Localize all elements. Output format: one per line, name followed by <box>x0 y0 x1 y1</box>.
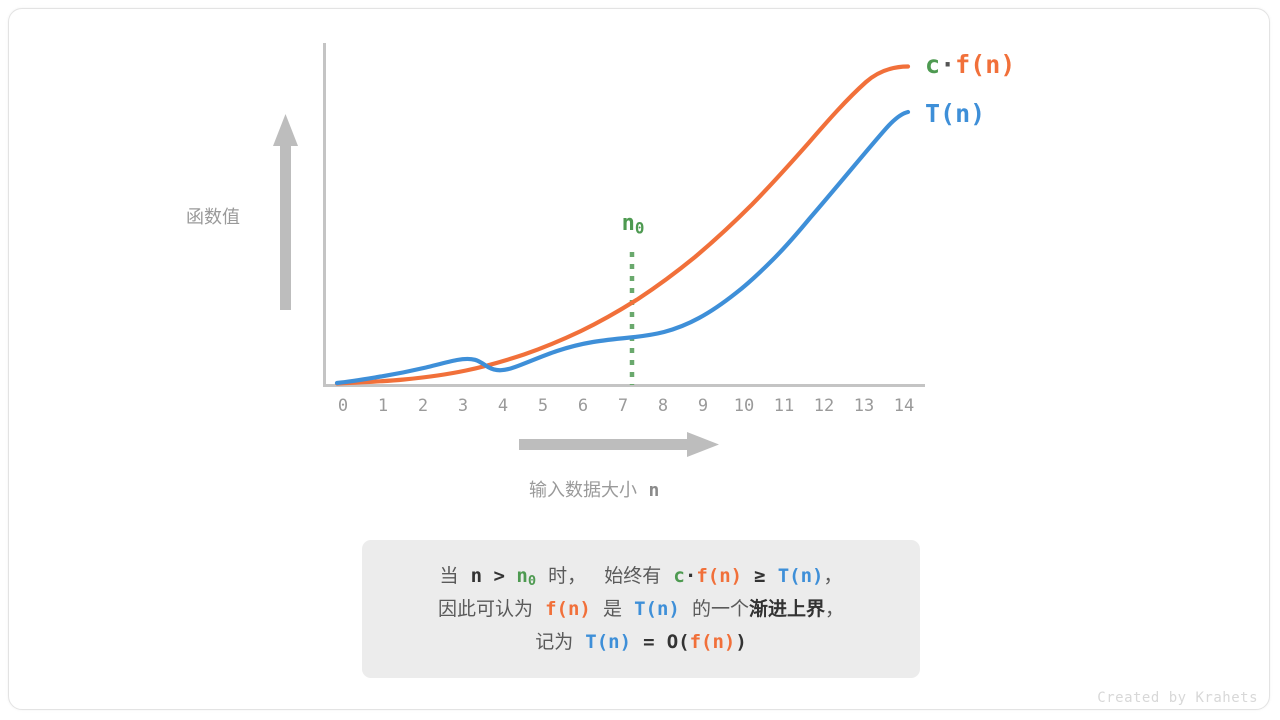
x-tick-14: 14 <box>894 396 914 416</box>
curve-label-c-f-n: c·f(n) <box>925 50 1015 79</box>
note1-t3: 始终有 <box>604 565 661 587</box>
y-axis-arrow-icon <box>273 114 298 310</box>
x-tick-5: 5 <box>538 396 548 416</box>
note3-big-o: O( <box>667 631 690 653</box>
figure-stage: c·f(n) T(n) n0 0 1 2 3 4 5 6 7 8 9 10 11… <box>0 0 1280 720</box>
note1-tn: T(n) <box>778 565 824 587</box>
note1-n0: n0 <box>516 565 536 587</box>
n0-annotation-label: n0 <box>622 211 645 237</box>
note1-dot: · <box>685 565 696 587</box>
x-tick-0: 0 <box>338 396 348 416</box>
x-tick-11: 11 <box>774 396 794 416</box>
note2-t1: 因此可认为 <box>438 598 533 620</box>
note3-fn: f(n) <box>690 631 736 653</box>
x-axis-label-var: n <box>648 480 659 501</box>
explanation-line-1: 当 n > n0 时， 始终有 c·f(n) ≥ T(n)， <box>440 562 843 592</box>
note3-eq: = <box>643 631 654 653</box>
x-tick-6: 6 <box>578 396 588 416</box>
x-tick-3: 3 <box>458 396 468 416</box>
x-tick-10: 10 <box>734 396 754 416</box>
x-tick-13: 13 <box>854 396 874 416</box>
note1-t2: 时， <box>548 565 586 587</box>
curve-label-dot: · <box>940 50 955 79</box>
note1-c: c <box>673 565 684 587</box>
explanation-box: 当 n > n0 时， 始终有 c·f(n) ≥ T(n)， 因此可认为 f(n… <box>362 540 920 678</box>
note3-t1: 记为 <box>535 631 573 653</box>
curve-label-t-n: T(n) <box>925 99 985 128</box>
x-axis-label-text: 输入数据大小 <box>529 480 637 501</box>
note3-tn: T(n) <box>585 631 631 653</box>
x-tick-9: 9 <box>698 396 708 416</box>
x-tick-12: 12 <box>814 396 834 416</box>
note2-t2: 是 <box>603 598 622 620</box>
curve-label-c: c <box>925 50 940 79</box>
curve-label-f-n: f(n) <box>955 50 1015 79</box>
n0-subscript: 0 <box>635 218 645 237</box>
note1-comma: ， <box>823 565 842 587</box>
note2-bold-term: 渐进上界 <box>749 598 825 620</box>
note1-ge: ≥ <box>754 565 765 587</box>
x-axis-label: 输入数据大小 n <box>529 476 659 502</box>
x-tick-2: 2 <box>418 396 428 416</box>
credit-text: Created by Krahets <box>1097 690 1258 706</box>
x-tick-1: 1 <box>378 396 388 416</box>
note2-fn: f(n) <box>545 598 591 620</box>
note2-t3: 的一个 <box>692 598 749 620</box>
x-tick-4: 4 <box>498 396 508 416</box>
note3-close-paren: ) <box>735 631 746 653</box>
x-tick-7: 7 <box>618 396 628 416</box>
explanation-line-2: 因此可认为 f(n) 是 T(n) 的一个渐进上界， <box>438 595 844 624</box>
note1-fn: f(n) <box>696 565 742 587</box>
n0-letter: n <box>622 211 635 236</box>
note2-tn: T(n) <box>634 598 680 620</box>
x-tick-8: 8 <box>658 396 668 416</box>
curve-t-n <box>337 112 908 383</box>
y-axis-label: 函数值 <box>186 203 240 229</box>
explanation-line-3: 记为 T(n) = O(f(n)) <box>535 628 747 657</box>
note2-comma: ， <box>825 598 844 620</box>
note1-n-gt: n > <box>471 565 517 587</box>
x-axis-arrow-icon <box>519 432 719 457</box>
note1-t1: 当 <box>440 565 459 587</box>
